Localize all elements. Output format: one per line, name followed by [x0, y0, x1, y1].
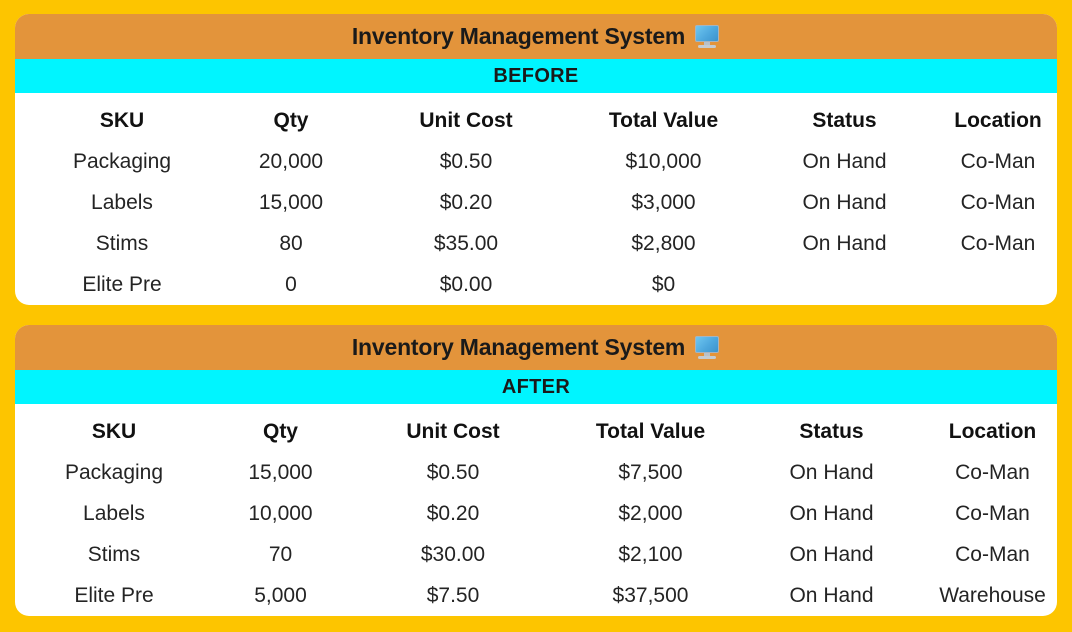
column-header-qty: Qty	[203, 412, 358, 452]
table-cell: 0	[211, 264, 371, 305]
table-cell: 5,000	[203, 575, 358, 616]
state-banner-label: BEFORE	[493, 65, 578, 88]
table-cell: On Hand	[753, 534, 910, 575]
table-cell: $0.20	[358, 493, 548, 534]
table-cell: $2,000	[548, 493, 753, 534]
column-header-total-value: Total Value	[548, 412, 753, 452]
table-cell: On Hand	[766, 223, 923, 264]
inventory-card-before: Inventory Management System BEFORE SKU Q…	[15, 14, 1057, 305]
column-header-status: Status	[753, 412, 910, 452]
desktop-computer-icon	[694, 25, 720, 49]
table-cell: $0.00	[371, 264, 561, 305]
state-banner-before: BEFORE	[15, 59, 1057, 93]
column-header-location: Location	[910, 412, 1057, 452]
page-title: Inventory Management System	[352, 334, 685, 361]
table-cell: $35.00	[371, 223, 561, 264]
table-cell: 70	[203, 534, 358, 575]
card-header-after: Inventory Management System	[15, 325, 1057, 370]
table-cell: $3,000	[561, 182, 766, 223]
table-cell: $0.50	[371, 141, 561, 182]
table-cell: Packaging	[25, 452, 203, 493]
table-cell: Co-Man	[910, 534, 1057, 575]
inventory-comparison-page: Inventory Management System BEFORE SKU Q…	[0, 0, 1072, 632]
table-cell: Stims	[25, 534, 203, 575]
column-header-location: Location	[923, 101, 1057, 141]
inventory-card-after: Inventory Management System AFTER SKU Qt…	[15, 325, 1057, 616]
card-header-before: Inventory Management System	[15, 14, 1057, 59]
table-cell: Packaging	[33, 141, 211, 182]
table-cell: $0.50	[358, 452, 548, 493]
table-cell: $10,000	[561, 141, 766, 182]
table-cell: Labels	[25, 493, 203, 534]
table-cell: $0	[561, 264, 766, 305]
table-cell: On Hand	[766, 182, 923, 223]
table-cell: Labels	[33, 182, 211, 223]
state-banner-label: AFTER	[502, 376, 570, 399]
table-cell: Co-Man	[923, 141, 1057, 182]
table-cell: 10,000	[203, 493, 358, 534]
table-cell: Elite Pre	[33, 264, 211, 305]
table-cell: $7.50	[358, 575, 548, 616]
column-header-unit-cost: Unit Cost	[358, 412, 548, 452]
table-cell: Co-Man	[910, 493, 1057, 534]
table-cell: $0.20	[371, 182, 561, 223]
desktop-computer-icon	[694, 336, 720, 360]
column-header-total-value: Total Value	[561, 101, 766, 141]
state-banner-after: AFTER	[15, 370, 1057, 404]
table-cell	[766, 264, 923, 305]
table-cell: Warehouse	[910, 575, 1057, 616]
table-cell: $37,500	[548, 575, 753, 616]
table-cell: Elite Pre	[25, 575, 203, 616]
table-cell: 20,000	[211, 141, 371, 182]
table-cell: $2,100	[548, 534, 753, 575]
column-header-unit-cost: Unit Cost	[371, 101, 561, 141]
column-header-sku: SKU	[25, 412, 203, 452]
inventory-table-before: SKU Qty Unit Cost Total Value Status Loc…	[15, 93, 1057, 305]
page-title: Inventory Management System	[352, 23, 685, 50]
table-cell: $2,800	[561, 223, 766, 264]
column-header-qty: Qty	[211, 101, 371, 141]
table-cell: Stims	[33, 223, 211, 264]
table-cell: On Hand	[766, 141, 923, 182]
table-cell: $30.00	[358, 534, 548, 575]
table-cell: On Hand	[753, 493, 910, 534]
table-cell: Co-Man	[923, 223, 1057, 264]
table-cell: On Hand	[753, 575, 910, 616]
column-header-status: Status	[766, 101, 923, 141]
table-cell: 15,000	[203, 452, 358, 493]
inventory-table-after: SKU Qty Unit Cost Total Value Status Loc…	[15, 404, 1057, 616]
table-cell: Co-Man	[923, 182, 1057, 223]
column-header-sku: SKU	[33, 101, 211, 141]
table-cell: 80	[211, 223, 371, 264]
table-cell: Co-Man	[910, 452, 1057, 493]
table-cell: 15,000	[211, 182, 371, 223]
table-cell	[923, 264, 1057, 305]
table-cell: $7,500	[548, 452, 753, 493]
table-cell: On Hand	[753, 452, 910, 493]
